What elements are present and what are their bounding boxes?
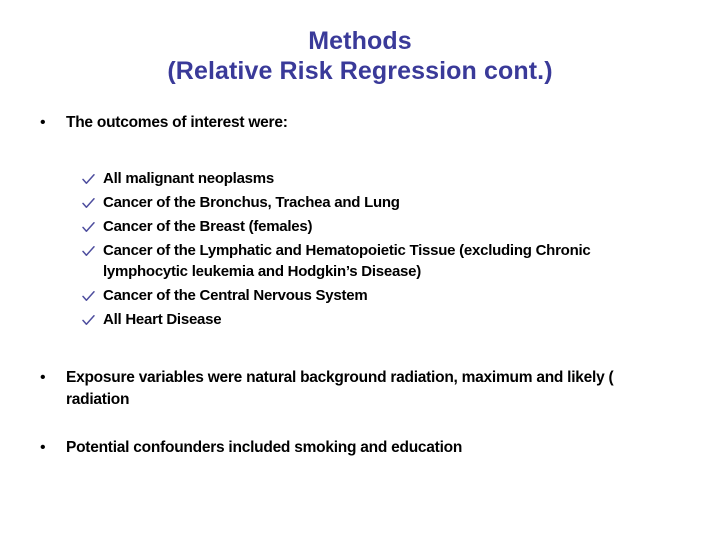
bullet-item-exposure: • Exposure variables were natural backgr… bbox=[0, 367, 720, 411]
list-item: All Heart Disease bbox=[0, 309, 720, 330]
list-item-label: All Heart Disease bbox=[103, 309, 221, 330]
bullet-dot-icon: • bbox=[40, 367, 66, 389]
spacer-after-sublist bbox=[0, 333, 720, 367]
slide-title: Methods (Relative Risk Regression cont.) bbox=[0, 26, 720, 86]
checkmark-icon bbox=[82, 285, 103, 302]
outcomes-sublist: All malignant neoplasms Cancer of the Br… bbox=[0, 168, 720, 330]
title-line-2: (Relative Risk Regression cont.) bbox=[0, 56, 720, 86]
slide-canvas: Methods (Relative Risk Regression cont.)… bbox=[0, 0, 720, 540]
list-item-label: Cancer of the Lymphatic and Hematopoieti… bbox=[103, 240, 663, 282]
list-item: Cancer of the Lymphatic and Hematopoieti… bbox=[0, 240, 720, 282]
checkmark-icon bbox=[82, 216, 103, 233]
checkmark-icon bbox=[82, 168, 103, 185]
bullet-dot-icon: • bbox=[40, 112, 66, 134]
list-item: Cancer of the Bronchus, Trachea and Lung bbox=[0, 192, 720, 213]
checkmark-icon bbox=[82, 240, 103, 257]
list-item-label: Cancer of the Central Nervous System bbox=[103, 285, 367, 306]
spacer-after-exposure bbox=[0, 411, 720, 437]
title-line-1: Methods bbox=[0, 26, 720, 56]
list-item: Cancer of the Central Nervous System bbox=[0, 285, 720, 306]
list-item: Cancer of the Breast (females) bbox=[0, 216, 720, 237]
bullet-item-confounders: • Potential confounders included smoking… bbox=[0, 437, 720, 459]
bullet-item-outcomes: • The outcomes of interest were: bbox=[0, 112, 720, 134]
bullet-text-exposure: Exposure variables were natural backgrou… bbox=[66, 367, 641, 411]
checkmark-icon bbox=[82, 309, 103, 326]
list-item-label: Cancer of the Breast (females) bbox=[103, 216, 312, 237]
list-item-label: All malignant neoplasms bbox=[103, 168, 274, 189]
bullet-dot-icon: • bbox=[40, 437, 66, 459]
spacer-after-outcomes bbox=[0, 134, 720, 168]
checkmark-icon bbox=[82, 192, 103, 209]
slide-body: • The outcomes of interest were: All mal… bbox=[0, 112, 720, 459]
bullet-text-confounders: Potential confounders included smoking a… bbox=[66, 437, 462, 459]
list-item: All malignant neoplasms bbox=[0, 168, 720, 189]
bullet-text-outcomes: The outcomes of interest were: bbox=[66, 112, 288, 134]
list-item-label: Cancer of the Bronchus, Trachea and Lung bbox=[103, 192, 400, 213]
